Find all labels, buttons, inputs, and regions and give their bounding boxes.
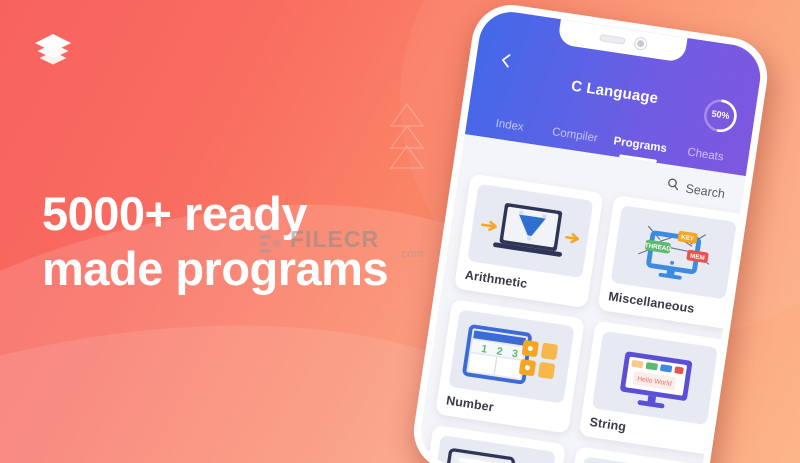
- phone-notch: [557, 19, 687, 63]
- app-body: Search: [416, 134, 745, 463]
- search-icon: [666, 177, 682, 197]
- headline-line-1: 5000+ ready: [42, 187, 307, 240]
- monitor-helloworld-icon: Hello World: [592, 331, 718, 425]
- stacked-triangles-icon: [378, 100, 436, 172]
- progress-badge[interactable]: 50%: [698, 93, 743, 138]
- program-card-miscellaneous[interactable]: THREAD KEY MEM Miscellaneous: [597, 195, 747, 330]
- svg-text:2: 2: [496, 345, 504, 358]
- svg-text:3: 3: [511, 348, 519, 361]
- promo-banner: 5000+ ready made programs FILECR .com: [0, 0, 800, 463]
- monitor-network-icon: THREAD KEY MEM: [611, 205, 737, 299]
- window-bucket-icon: 12 34 5: [430, 435, 556, 463]
- program-card-grid: Arithmetic: [416, 172, 740, 463]
- calculator-keys-icon: 1 2 3: [448, 309, 574, 403]
- phone-frame: C Language 50% Index Compiler Programs C…: [408, 0, 772, 463]
- laptop-bulb-icon: [573, 456, 699, 463]
- headline-line-2: made programs: [42, 241, 472, 296]
- layers-stack-icon: [30, 28, 76, 74]
- program-card-string[interactable]: Hello World String: [579, 321, 729, 456]
- phone-mockup: C Language 50% Index Compiler Programs C…: [401, 0, 800, 463]
- svg-text:1: 1: [480, 343, 488, 356]
- page-title: 5000+ ready made programs: [42, 186, 472, 297]
- laptop-funnel-icon: [467, 184, 593, 278]
- program-card-arithmetic[interactable]: Arithmetic: [454, 174, 604, 309]
- program-card-array[interactable]: 12 34 5: [416, 425, 566, 463]
- front-camera-icon: [634, 37, 647, 50]
- search-label: Search: [685, 181, 726, 201]
- phone-screen: C Language 50% Index Compiler Programs C…: [416, 8, 764, 463]
- program-card-number[interactable]: 1 2 3: [435, 299, 585, 434]
- speaker-slot-icon: [599, 34, 626, 45]
